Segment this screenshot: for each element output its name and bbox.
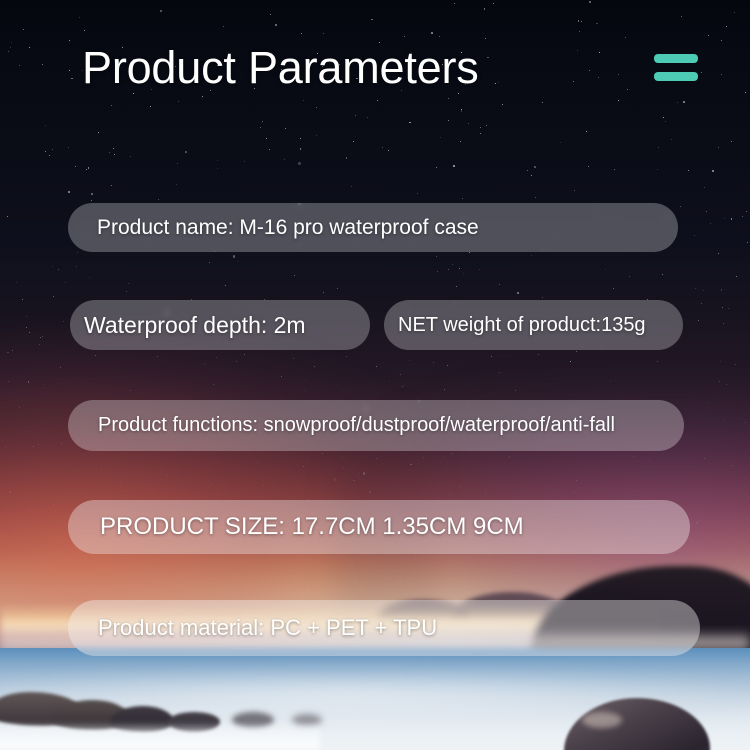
parameter-pill-net-weight: NET weight of product:135g [384, 300, 683, 350]
product-parameters-page: Product Parameters Product name: M-16 pr… [0, 0, 750, 750]
parameter-pill-product-size: PRODUCT SIZE: 17.7CM 1.35CM 9CM [68, 500, 690, 554]
parameter-text: Waterproof depth: 2m [70, 312, 306, 339]
parameter-pill-product-name: Product name: M-16 pro waterproof case [68, 203, 678, 252]
parameter-text: PRODUCT SIZE: 17.7CM 1.35CM 9CM [68, 513, 524, 541]
menu-bar-top [654, 54, 698, 63]
parameter-text: Product name: M-16 pro waterproof case [68, 216, 479, 240]
parameter-text: NET weight of product:135g [384, 314, 646, 337]
menu-bar-bottom [654, 72, 698, 81]
parameter-pill-waterproof-depth: Waterproof depth: 2m [70, 300, 370, 350]
page-header: Product Parameters [82, 36, 702, 98]
content-layer: Product Parameters Product name: M-16 pr… [0, 0, 750, 750]
parameter-pill-product-functions: Product functions: snowproof/dustproof/w… [68, 400, 684, 451]
equals-menu-icon[interactable] [654, 50, 702, 84]
page-title: Product Parameters [82, 45, 479, 90]
parameter-text: Product material: PC + PET + TPU [68, 615, 437, 641]
parameter-pill-product-material: Product material: PC + PET + TPU [68, 600, 700, 656]
parameter-text: Product functions: snowproof/dustproof/w… [68, 414, 615, 437]
